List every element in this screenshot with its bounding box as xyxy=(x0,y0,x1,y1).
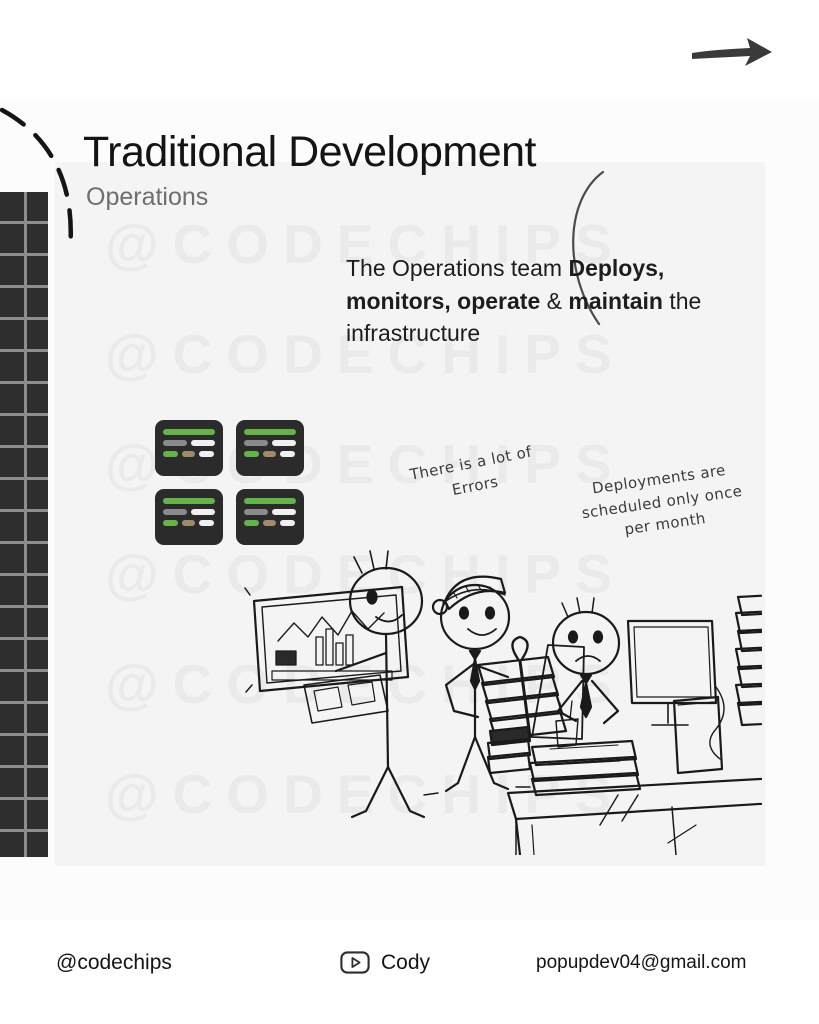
card-bar-row xyxy=(244,509,296,515)
card-bar xyxy=(244,509,268,515)
card-bar-row xyxy=(244,440,296,446)
card-bar-row xyxy=(163,451,215,457)
footer-email[interactable]: popupdev04@gmail.com xyxy=(536,952,746,974)
card-bar xyxy=(272,509,296,515)
server-card[interactable] xyxy=(155,420,223,476)
footer-channel-name: Cody xyxy=(381,951,430,975)
footer-handle[interactable]: @codechips xyxy=(56,951,172,975)
page-title: Traditional Development xyxy=(83,130,536,175)
paperwork-stack-right xyxy=(736,593,762,725)
page-subtitle: Operations xyxy=(86,183,536,212)
card-bar xyxy=(199,520,214,526)
stick-figure-illustration xyxy=(232,525,762,855)
card-bar-row xyxy=(163,440,215,446)
card-bar xyxy=(182,520,195,526)
server-card[interactable] xyxy=(155,489,223,545)
card-bar xyxy=(199,451,214,457)
chart-board xyxy=(245,587,408,692)
paperwork-stack-left xyxy=(488,727,530,773)
card-bar xyxy=(280,451,295,457)
card-title-bar xyxy=(163,498,215,504)
body-part-1: The Operations team xyxy=(346,255,568,281)
office-desk xyxy=(508,775,762,855)
footer-channel[interactable]: Cody xyxy=(340,951,430,975)
card-title-bar xyxy=(163,429,215,435)
body-paragraph: The Operations team Deploys, monitors, o… xyxy=(346,252,746,350)
body-ampersand: & xyxy=(540,288,568,314)
card-bar xyxy=(163,451,178,457)
card-bar xyxy=(244,440,268,446)
card-bar xyxy=(272,440,296,446)
card-bar-row xyxy=(244,451,296,457)
card-bar xyxy=(163,509,187,515)
card-bar xyxy=(163,520,178,526)
card-bar xyxy=(182,451,195,457)
brick-wall-decoration xyxy=(0,192,48,857)
server-card[interactable] xyxy=(236,420,304,476)
card-bar xyxy=(191,440,215,446)
footer-bar: @codechips Cody popupdev04@gmail.com xyxy=(0,935,819,990)
card-bar-row xyxy=(163,520,215,526)
card-title-bar xyxy=(244,429,296,435)
next-slide-arrow-icon[interactable] xyxy=(688,28,778,76)
upright-book xyxy=(674,697,722,773)
youtube-play-icon[interactable] xyxy=(340,951,370,974)
card-bar xyxy=(244,451,259,457)
card-bar xyxy=(163,440,187,446)
gift-stack xyxy=(478,637,566,739)
card-title-bar xyxy=(244,498,296,504)
card-bar xyxy=(191,509,215,515)
heading-block: Traditional Development Operations xyxy=(83,130,536,212)
card-bar xyxy=(263,451,276,457)
body-emphasis-2: maintain xyxy=(568,288,663,314)
card-bar-row xyxy=(163,509,215,515)
desk-worker-figure xyxy=(532,598,619,739)
